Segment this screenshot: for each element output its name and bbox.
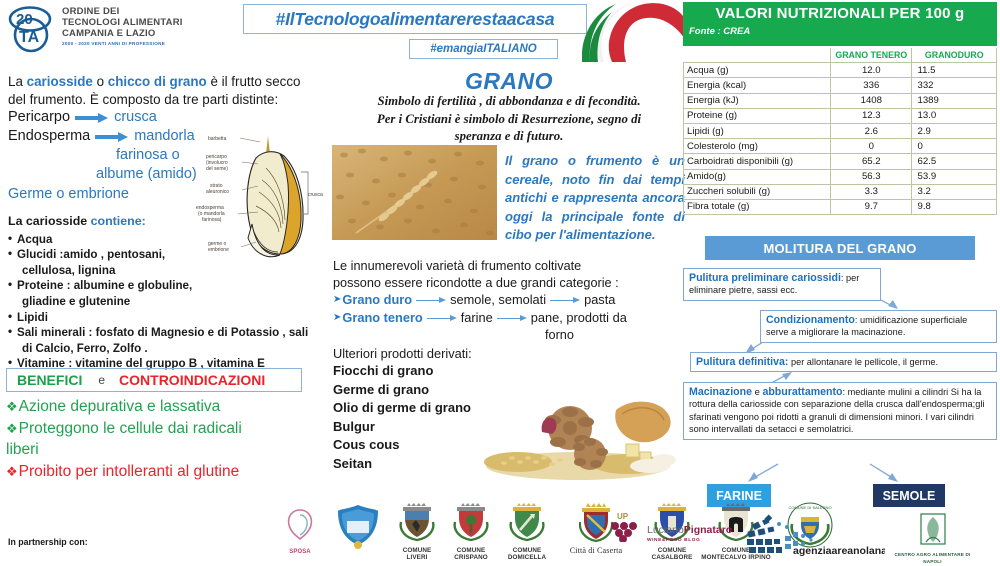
table-row: Proteine (g)12.313.0 bbox=[684, 108, 997, 123]
nutrition-table: GRANO TENERO GRANODURO Acqua (g)12.011.5… bbox=[683, 48, 997, 215]
intro-sentence: La cariosside o chicco di grano è il fru… bbox=[8, 73, 320, 108]
sali-cont: di Calcio, Ferro, Zolfo . bbox=[17, 341, 324, 357]
step-3-title: Pulitura definitiva: bbox=[696, 356, 788, 368]
caan-label: CENTRO AGRO ALIMENTARE DI NAPOLI bbox=[885, 551, 980, 566]
table-row: Zuccheri solubili (g)3.33.2 bbox=[684, 184, 997, 199]
svg-text:aleuronico: aleuronico bbox=[206, 189, 229, 195]
step-1-title: Pulitura preliminare cariossidi bbox=[689, 272, 841, 284]
list-item: Proteine : albumine e globuline, gliadin… bbox=[8, 278, 324, 309]
list-item: Olio di germe di grano bbox=[333, 399, 471, 418]
arrow-right-icon bbox=[75, 113, 109, 122]
hashtag-secondary-banner: #emangiaITALIANO bbox=[409, 39, 558, 59]
value-grano-tenero: 0 bbox=[831, 139, 912, 154]
nutrient-label: Acqua (g) bbox=[684, 63, 831, 78]
intro-mid: o bbox=[93, 74, 108, 89]
composition-list: La cariosside contiene: Acqua Glucidi :a… bbox=[8, 214, 324, 372]
luciano-name: Luciano bbox=[647, 524, 684, 536]
domicella-cap2: DOMICELLA bbox=[496, 554, 558, 561]
flow-arrow-semole-icon bbox=[866, 462, 908, 486]
milling-step-1: Pulitura preliminare cariossidi: per eli… bbox=[683, 268, 881, 301]
table-row: Carboidrati disponibili (g)65.262.5 bbox=[684, 154, 997, 169]
partner-sposa-logo: SPOSA bbox=[272, 504, 328, 556]
value-granoduro: 0 bbox=[912, 139, 997, 154]
nutrient-label: Lipidi (g) bbox=[684, 123, 831, 138]
liveri-cap2: LIVERI bbox=[388, 554, 446, 561]
pignataro-name: Pignataro bbox=[684, 524, 732, 536]
comune-crispano-crest-icon bbox=[452, 502, 490, 542]
benefici-title: BENEFICI bbox=[7, 372, 82, 388]
nutrition-banner-title: VALORI NUTRIZIONALI PER 100 g bbox=[683, 5, 997, 22]
logo-subline: 2000 - 2020 VENTI ANNI DI PROFESSIONE bbox=[62, 41, 227, 46]
nutrient-label: Energia (kJ) bbox=[684, 93, 831, 108]
agenzia-area-nolana-logo: agenziaareanolana bbox=[735, 514, 885, 561]
grano-description: Il grano o frumento è un cereale, noto f… bbox=[505, 152, 685, 245]
svg-text:del seme): del seme) bbox=[206, 166, 228, 172]
value-grano-tenero: 9.7 bbox=[831, 199, 912, 214]
proteine-cont: gliadine e glutenine bbox=[17, 294, 324, 310]
left-column: 20 TA ORDINE DEI TECNOLOGI ALIMENTARI CA… bbox=[0, 0, 332, 563]
comune-liveri-crest-icon bbox=[398, 502, 436, 542]
list-item: Fiocchi di grano bbox=[333, 362, 471, 381]
hashtag-main-banner: #IlTecnologoalimentarerestaacasa bbox=[243, 4, 587, 34]
list-item: ❖ Proibito per intolleranti al glutine bbox=[6, 461, 316, 483]
step-4-title-b: abburattamento bbox=[762, 386, 842, 398]
varieties-intro-1: Le innumerevoli varietà di frumento colt… bbox=[333, 258, 678, 275]
nutrient-label: Zuccheri solubili (g) bbox=[684, 184, 831, 199]
value-grano-tenero: 336 bbox=[831, 78, 912, 93]
table-row: Energia (kJ)14081389 bbox=[684, 93, 997, 108]
variety-tenero-end-2: forno bbox=[333, 327, 678, 344]
partners-strip: In partnership con: SPOSA COMUNE LIVERI bbox=[0, 500, 1000, 563]
part-pericarpo-row: Pericarpo crusca bbox=[8, 108, 320, 127]
organization-logo: 20 TA ORDINE DEI TECNOLOGI ALIMENTARI CA… bbox=[6, 4, 226, 56]
luciano-tagline: WINE&FOOD BLOG bbox=[647, 538, 727, 543]
partner-domicella-logo: COMUNE DOMICELLA bbox=[496, 502, 558, 562]
svg-text:TA: TA bbox=[19, 29, 40, 46]
hashtag-secondary-text: #emangiaITALIANO bbox=[430, 43, 537, 55]
grape-cluster-icon: UP bbox=[607, 510, 643, 542]
label-barbetta: barbetta bbox=[208, 136, 227, 142]
col-granoduro: GRANODURO bbox=[912, 48, 997, 63]
value-granoduro: 62.5 bbox=[912, 154, 997, 169]
composition-title-a: La cariosside bbox=[8, 214, 91, 228]
svg-text:20: 20 bbox=[16, 11, 33, 28]
variety-tenero-label: Grano tenero bbox=[342, 309, 422, 327]
benefici-conj: e bbox=[82, 373, 119, 387]
value-granoduro: 13.0 bbox=[912, 108, 997, 123]
step-3-text: per allontanare le pellicole, il germe. bbox=[788, 357, 938, 367]
italian-flag-ribbon-icon bbox=[582, 0, 688, 62]
diamond-bullet-icon: ❖ bbox=[6, 396, 18, 418]
variety-tenero-row: ➤ Grano tenero farine pane, prodotti da bbox=[333, 309, 678, 327]
value-granoduro: 332 bbox=[912, 78, 997, 93]
variety-duro-mid: semole, semolati bbox=[450, 291, 546, 309]
logo-line-2: TECNOLOGI ALIMENTARI bbox=[62, 17, 227, 28]
derived-products-list: Fiocchi di grano Germe di grano Olio di … bbox=[333, 362, 471, 474]
arrow-right-icon bbox=[550, 296, 580, 304]
arrow-right-icon bbox=[95, 132, 129, 141]
nutrient-label: Carboidrati disponibili (g) bbox=[684, 154, 831, 169]
chevron-right-icon: ➤ bbox=[333, 291, 341, 309]
partner-liveri-logo: COMUNE LIVERI bbox=[388, 502, 446, 562]
milling-banner: MOLITURA DEL GRANO bbox=[705, 236, 975, 260]
value-granoduro: 1389 bbox=[912, 93, 997, 108]
value-grano-tenero: 3.3 bbox=[831, 184, 912, 199]
pericarpo-label: Pericarpo bbox=[8, 108, 70, 127]
list-item: Seitan bbox=[333, 455, 471, 474]
varieties-section: Le innumerevoli varietà di frumento colt… bbox=[333, 258, 678, 344]
hashtag-main-text: #IlTecnologoalimentarerestaacasa bbox=[276, 9, 555, 30]
table-row: Lipidi (g)2.62.9 bbox=[684, 123, 997, 138]
sposa-label: SPOSA bbox=[272, 549, 328, 556]
list-item: Glucidi :amido , pentosani, cellulosa, l… bbox=[8, 247, 324, 278]
value-granoduro: 2.9 bbox=[912, 123, 997, 138]
list-item: Bulgur bbox=[333, 418, 471, 437]
col-blank bbox=[684, 48, 831, 63]
diamond-bullet-icon: ❖ bbox=[6, 418, 18, 440]
intro-bold-cariosside: cariosside bbox=[27, 74, 93, 89]
list-item: ❖ Proteggono le cellule dai radicali bbox=[6, 418, 316, 440]
step-4-conj: e bbox=[752, 386, 762, 397]
nutrition-source: Fonte : CREA bbox=[689, 26, 750, 37]
milling-banner-title: MOLITURA DEL GRANO bbox=[763, 241, 916, 256]
controindicazioni-title: CONTROINDICAZIONI bbox=[119, 372, 265, 388]
list-item: ❖ Azione depurativa e lassativa bbox=[6, 396, 316, 418]
logo-line-1: ORDINE DEI bbox=[62, 6, 227, 17]
composition-title-b: contiene: bbox=[91, 214, 146, 228]
svg-text:COMUNE DI SALERNO: COMUNE DI SALERNO bbox=[788, 505, 831, 510]
value-grano-tenero: 65.2 bbox=[831, 154, 912, 169]
table-row: Amido(g)56.353.9 bbox=[684, 169, 997, 184]
list-item: Germe di grano bbox=[333, 381, 471, 400]
list-item: Sali minerali : fosfato di Magnesio e di… bbox=[8, 325, 324, 356]
table-row: Energia (kcal)336332 bbox=[684, 78, 997, 93]
liveri-cap1: COMUNE bbox=[388, 547, 446, 554]
wheat-grains-photo bbox=[332, 145, 497, 240]
list-item: Acqua bbox=[8, 232, 324, 248]
composition-title: La cariosside contiene: bbox=[8, 214, 324, 230]
comune-domicella-crest-icon bbox=[508, 502, 546, 542]
nutrient-label: Fibra totale (g) bbox=[684, 199, 831, 214]
partner-luciano-pignataro-logo: UP LucianoPignataro WINE&FOOD BLOG bbox=[607, 510, 727, 552]
intro-pre: La bbox=[8, 74, 27, 89]
variety-duro-end: pasta bbox=[584, 291, 615, 309]
sposa-icon bbox=[280, 504, 320, 544]
value-grano-tenero: 1408 bbox=[831, 93, 912, 108]
partners-label: In partnership con: bbox=[8, 537, 88, 547]
partner-crispano-logo: COMUNE CRISPANO bbox=[442, 502, 500, 562]
agenzia-fan-icon: agenziaareanolana bbox=[735, 514, 885, 556]
variety-tenero-mid: farine bbox=[461, 309, 493, 327]
nutrient-label: Amido(g) bbox=[684, 169, 831, 184]
list-item: Lipidi bbox=[8, 310, 324, 326]
subtitle-line-1: Simbolo di fertilità , di abbondanza e d… bbox=[334, 93, 684, 111]
milling-step-3: Pulitura definitiva: per allontanare le … bbox=[690, 352, 997, 372]
domicella-cap1: COMUNE bbox=[496, 547, 558, 554]
derived-products-header: Ulteriori prodotti derivati: bbox=[333, 346, 472, 361]
milling-step-2: Condizionamento: umidificazione superfic… bbox=[760, 310, 997, 343]
diamond-bullet-icon: ❖ bbox=[6, 461, 18, 483]
value-granoduro: 53.9 bbox=[912, 169, 997, 184]
table-row: Fibra totale (g)9.79.8 bbox=[684, 199, 997, 214]
variety-duro-row: ➤ Grano duro semole, semolati pasta bbox=[333, 291, 678, 309]
crispano-cap2: CRISPANO bbox=[442, 554, 500, 561]
value-grano-tenero: 12.3 bbox=[831, 108, 912, 123]
value-granoduro: 3.2 bbox=[912, 184, 997, 199]
endosperma-label: Endosperma bbox=[8, 127, 90, 146]
subtitle-line-2: Per i Cristiani è simbolo di Resurrezion… bbox=[334, 111, 684, 129]
table-row: Colesterolo (mg)00 bbox=[684, 139, 997, 154]
svg-text:UP: UP bbox=[617, 512, 629, 521]
benefits-header-box: BENEFICI e CONTROINDICAZIONI bbox=[6, 368, 302, 392]
nutrient-label: Energia (kcal) bbox=[684, 78, 831, 93]
logo-line-3: CAMPANIA E LAZIO bbox=[62, 28, 227, 39]
ota-logo-icon: 20 TA bbox=[6, 5, 58, 53]
label-crusca: crusca bbox=[308, 192, 323, 198]
value-grano-tenero: 2.6 bbox=[831, 123, 912, 138]
value-granoduro: 9.8 bbox=[912, 199, 997, 214]
table-row: Acqua (g)12.011.5 bbox=[684, 63, 997, 78]
step-4-title-a: Macinazione bbox=[689, 386, 752, 398]
subtitle-line-3: speranza e di futuro. bbox=[334, 128, 684, 146]
nutrient-label: Colesterolo (mg) bbox=[684, 139, 831, 154]
centro-agro-alimentare-logo: CENTRO AGRO ALIMENTARE DI NAPOLI bbox=[885, 512, 980, 558]
caan-icon bbox=[914, 512, 952, 546]
crispano-cap1: COMUNE bbox=[442, 547, 500, 554]
step-2-title: Condizionamento bbox=[766, 314, 855, 326]
svg-text:agenziaareanolana: agenziaareanolana bbox=[793, 545, 885, 556]
variety-tenero-end: pane, prodotti da bbox=[531, 309, 627, 327]
partner-shield-logo bbox=[330, 503, 386, 554]
nutrition-banner: VALORI NUTRIZIONALI PER 100 g Fonte : CR… bbox=[683, 2, 997, 46]
col-grano-tenero: GRANO TENERO bbox=[831, 48, 912, 63]
value-grano-tenero: 12.0 bbox=[831, 63, 912, 78]
grano-subtitle: Simbolo di fertilità , di abbondanza e d… bbox=[334, 93, 684, 146]
variety-duro-label: Grano duro bbox=[342, 291, 412, 309]
arrow-right-icon bbox=[497, 314, 527, 322]
shield-badge-icon bbox=[334, 503, 382, 549]
bread-products-photo bbox=[478, 370, 678, 480]
arrow-right-icon bbox=[427, 314, 457, 322]
nutrient-label: Proteine (g) bbox=[684, 108, 831, 123]
value-grano-tenero: 56.3 bbox=[831, 169, 912, 184]
chevron-right-icon: ➤ bbox=[333, 309, 341, 327]
varieties-intro-2: possono essere ricondotte a due grandi c… bbox=[333, 275, 678, 292]
benefits-list: ❖ Azione depurativa e lassativa ❖ Proteg… bbox=[6, 396, 316, 482]
list-item-cont: liberi bbox=[6, 439, 316, 461]
milling-step-4: Macinazione e abburattamento: mediante m… bbox=[683, 382, 997, 440]
pericarpo-value: crusca bbox=[114, 108, 157, 127]
list-item: Cous cous bbox=[333, 436, 471, 455]
glucidi-cont: cellulosa, lignina bbox=[17, 263, 324, 279]
arrow-right-icon bbox=[416, 296, 446, 304]
value-granoduro: 11.5 bbox=[912, 63, 997, 78]
flow-arrow-farine-icon bbox=[740, 462, 782, 486]
table-header-row: GRANO TENERO GRANODURO bbox=[684, 48, 997, 63]
endosperma-value: mandorla bbox=[134, 127, 194, 146]
page-title: GRANO bbox=[334, 68, 684, 95]
intro-bold-chicco: chicco di grano bbox=[108, 74, 207, 89]
